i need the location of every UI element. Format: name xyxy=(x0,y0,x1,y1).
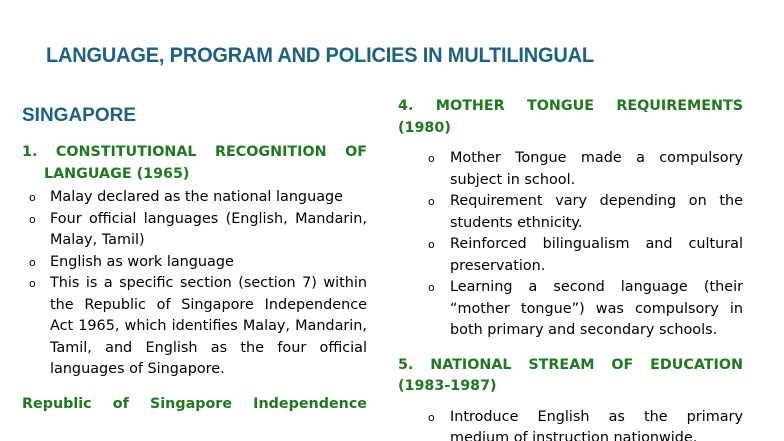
list-item-text: Malay declared as the national language xyxy=(50,189,343,205)
list-item-text: This is a specific section (section 7) w… xyxy=(50,275,367,377)
right-column: 4. MOTHER TONGUE REQUIREMENTS (1980) o M… xyxy=(398,96,743,441)
list-item: o Malay declared as the national languag… xyxy=(22,187,367,209)
bullet-circle-icon: o xyxy=(428,148,435,170)
list-item: o Reinforced bilingualism and cultural p… xyxy=(398,234,743,277)
section-title-singapore: SINGAPORE xyxy=(22,104,367,128)
document-page: LANGUAGE, PROGRAM AND POLICIES IN MULTIL… xyxy=(0,0,784,441)
list-item-text: Mother Tongue made a compulsory subject … xyxy=(450,150,743,188)
spacer xyxy=(398,400,743,407)
list-item: o Introduce English as the primary mediu… xyxy=(398,407,743,441)
right-bullet-list-4: o Mother Tongue made a compulsory subjec… xyxy=(398,148,743,342)
heading-mother-tongue-requirements: 4. MOTHER TONGUE REQUIREMENTS (1980) xyxy=(398,96,743,139)
bullet-circle-icon: o xyxy=(428,407,435,429)
list-item-text: Introduce English as the primary medium … xyxy=(450,409,743,441)
spacer xyxy=(398,141,743,148)
list-item: o English as work language xyxy=(22,252,367,274)
list-item: o This is a specific section (section 7)… xyxy=(22,273,367,381)
list-item: o Four official languages (English, Mand… xyxy=(22,209,367,252)
page-title: LANGUAGE, PROGRAM AND POLICIES IN MULTIL… xyxy=(46,42,697,68)
list-item-text: English as work language xyxy=(50,254,234,270)
bullet-circle-icon: o xyxy=(428,234,435,256)
left-bullet-list: o Malay declared as the national languag… xyxy=(22,187,367,381)
right-bullet-list-5: o Introduce English as the primary mediu… xyxy=(398,407,743,441)
heading-republic-of-singapore-independence: Republic of Singapore Independence xyxy=(22,394,367,416)
bullet-circle-icon: o xyxy=(29,209,36,231)
bullet-circle-icon: o xyxy=(29,252,36,274)
list-item: o Requirement vary depending on the stud… xyxy=(398,191,743,234)
left-column: SINGAPORE 1. CONSTITUTIONAL RECOGNITION … xyxy=(22,96,367,415)
heading-national-stream-of-education: 5. NATIONAL STREAM OF EDUCATION (1983-19… xyxy=(398,355,743,398)
list-item: o Mother Tongue made a compulsory subjec… xyxy=(398,148,743,191)
bullet-circle-icon: o xyxy=(29,273,36,295)
bullet-circle-icon: o xyxy=(428,277,435,299)
bullet-circle-icon: o xyxy=(428,191,435,213)
list-item-text: Learning a second language (their “mothe… xyxy=(450,279,743,338)
list-item: o Learning a second language (their “mot… xyxy=(398,277,743,342)
bullet-circle-icon: o xyxy=(29,187,36,209)
list-item-text: Reinforced bilingualism and cultural pre… xyxy=(450,236,743,274)
spacer xyxy=(398,342,743,355)
heading-constitutional-recognition: 1. CONSTITUTIONAL RECOGNITION OF LANGUAG… xyxy=(22,142,367,185)
list-item-text: Requirement vary depending on the studen… xyxy=(450,193,743,231)
list-item-text: Four official languages (English, Mandar… xyxy=(50,211,367,249)
